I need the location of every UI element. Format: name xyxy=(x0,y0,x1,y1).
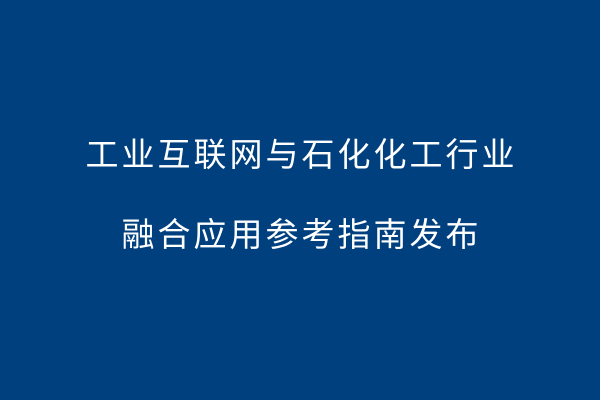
title-line-2: 融合应用参考指南发布 xyxy=(119,196,482,276)
title-card: 工业互联网与石化化工行业 融合应用参考指南发布 xyxy=(0,0,600,400)
title-line-1: 工业互联网与石化化工行业 xyxy=(83,116,518,196)
page-title: 工业互联网与石化化工行业 融合应用参考指南发布 xyxy=(0,116,600,276)
